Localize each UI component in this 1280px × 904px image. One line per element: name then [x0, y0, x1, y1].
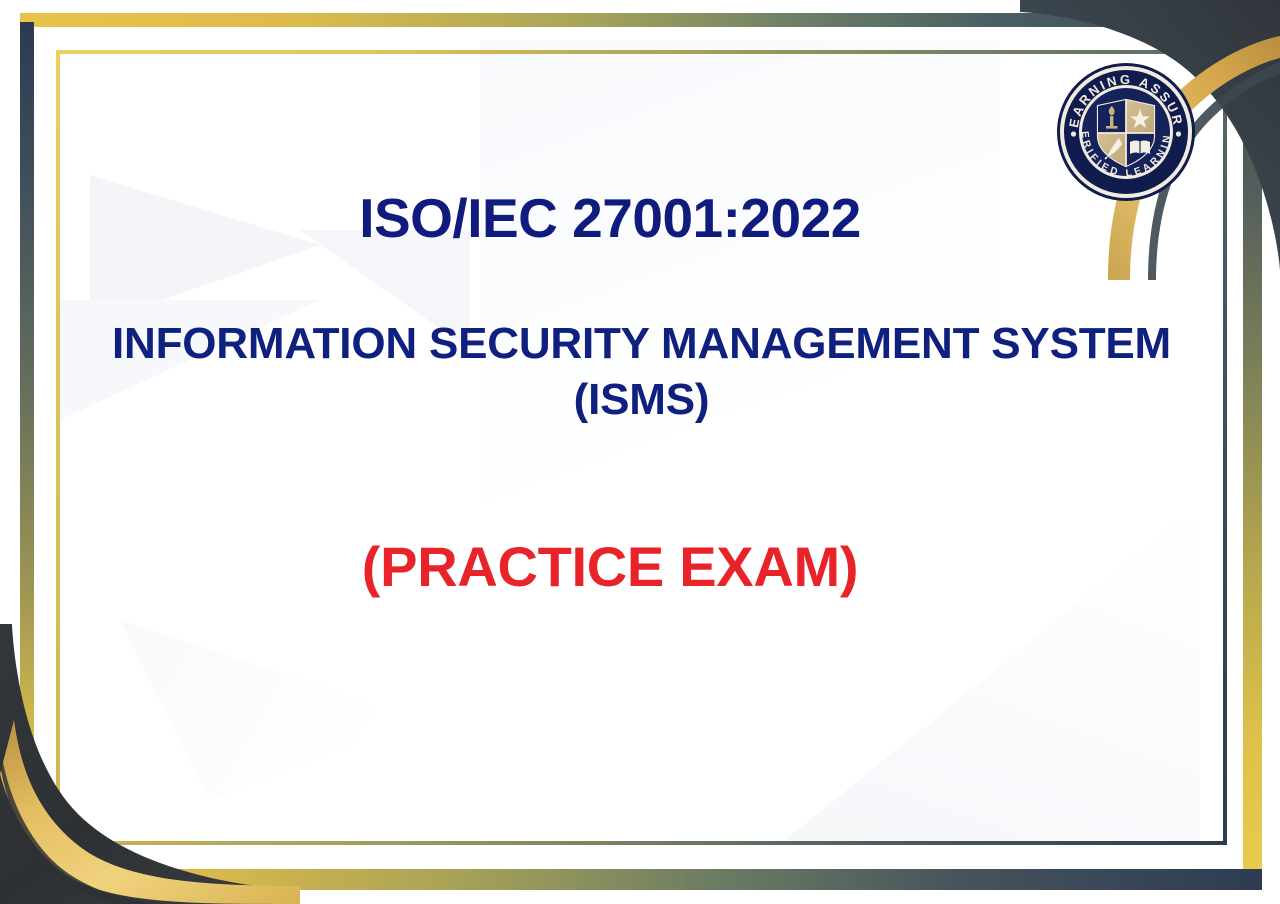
frame-bar-left	[20, 22, 34, 852]
logo-dot	[1071, 131, 1076, 136]
inner-frame-line-bottom	[56, 841, 1227, 845]
learning-assure-logo: LEARNING ASSURE VERIFIED LEARNING	[1056, 62, 1196, 202]
logo-dot	[1176, 131, 1181, 136]
slide-content: ISO/IEC 27001:2022 INFORMATION SECURITY …	[60, 54, 1223, 841]
frame-bar-bottom	[34, 869, 1262, 890]
practice-exam-label: (PRACTICE EXAM)	[60, 534, 1160, 599]
frame-bar-right	[1243, 52, 1262, 880]
presentation-slide: ISO/IEC 27001:2022 INFORMATION SECURITY …	[0, 0, 1280, 904]
book-icon	[1130, 141, 1150, 155]
subtitle-line-1: INFORMATION SECURITY MANAGEMENT SYSTEM	[112, 319, 1171, 368]
subtitle-line-2: (ISMS)	[60, 372, 1223, 428]
inner-frame-line-right	[1223, 50, 1227, 845]
subtitle-block: INFORMATION SECURITY MANAGEMENT SYSTEM (…	[60, 316, 1223, 428]
frame-bar-top	[20, 13, 1262, 27]
page-title: ISO/IEC 27001:2022	[60, 186, 1160, 250]
